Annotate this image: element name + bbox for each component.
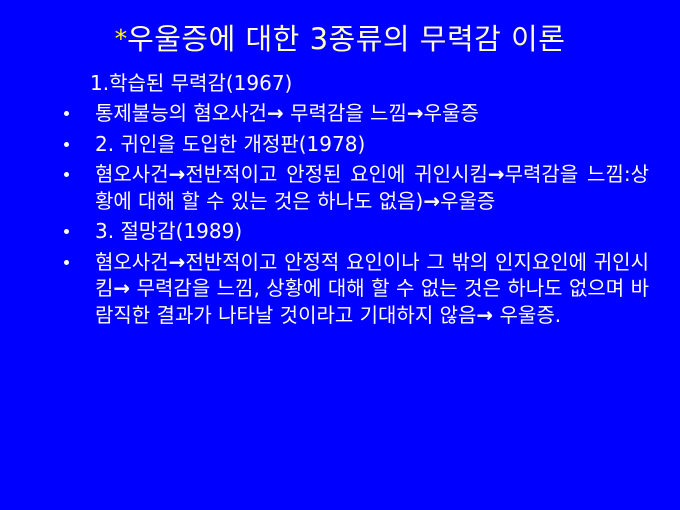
slide-body: 1.학습된 무력감(1967) 통제불능의 혐오사건→ 무력감을 느낌→우울증 … bbox=[0, 70, 680, 332]
subheading: 1.학습된 무력감(1967) bbox=[0, 70, 680, 96]
bullet-item-1: 통제불능의 혐오사건→ 무력감을 느낌→우울증 bbox=[0, 100, 680, 127]
bullet-item-3: 혐오사건→전반적이고 안정된 요인에 귀인시킴→무력감을 느낌:상황에 대해 할… bbox=[0, 161, 680, 214]
bullet-item-4: 3. 절망감(1989) bbox=[0, 218, 680, 245]
bullet-item-5: 혐오사건→전반적이고 안정적 요인이나 그 밖의 인지요인에 귀인시킴→ 무력감… bbox=[0, 249, 680, 329]
bullet-text-4: 3. 절망감(1989) bbox=[95, 218, 649, 245]
bullet-text-3: 혐오사건→전반적이고 안정된 요인에 귀인시킴→무력감을 느낌:상황에 대해 할… bbox=[95, 161, 649, 214]
bullet-dot-icon bbox=[64, 172, 69, 177]
bullet-dot-icon bbox=[64, 142, 69, 147]
asterisk-icon: * bbox=[115, 24, 128, 53]
slide-title-text: 우울증에 대한 3종류의 무력감 이론 bbox=[127, 22, 565, 56]
bullet-text-2: 2. 귀인을 도입한 개정판(1978) bbox=[95, 131, 649, 158]
bullet-item-2: 2. 귀인을 도입한 개정판(1978) bbox=[0, 131, 680, 158]
bullet-dot-icon bbox=[64, 260, 69, 265]
bullet-text-5: 혐오사건→전반적이고 안정적 요인이나 그 밖의 인지요인에 귀인시킴→ 무력감… bbox=[95, 249, 649, 329]
bullet-text-1: 통제불능의 혐오사건→ 무력감을 느낌→우울증 bbox=[95, 100, 649, 127]
bullet-dot-icon bbox=[64, 111, 69, 116]
slide-title: *우울증에 대한 3종류의 무력감 이론 bbox=[0, 22, 680, 56]
bullet-dot-icon bbox=[64, 229, 69, 234]
presentation-slide: *우울증에 대한 3종류의 무력감 이론 1.학습된 무력감(1967) 통제불… bbox=[0, 0, 680, 510]
